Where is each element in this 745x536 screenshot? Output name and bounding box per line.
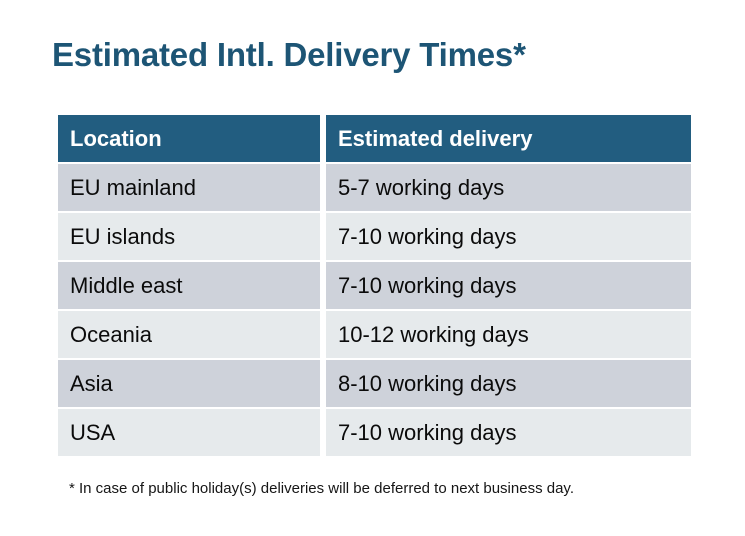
delivery-times-table: Location Estimated delivery EU mainland … [52, 113, 697, 458]
cell-estimate: 5-7 working days [326, 164, 691, 211]
table-row: Asia 8-10 working days [58, 360, 691, 407]
cell-estimate: 7-10 working days [326, 213, 691, 260]
table-row: Oceania 10-12 working days [58, 311, 691, 358]
table-row: Middle east 7-10 working days [58, 262, 691, 309]
table-body: EU mainland 5-7 working days EU islands … [58, 164, 691, 456]
cell-location: Oceania [58, 311, 320, 358]
cell-location: Asia [58, 360, 320, 407]
cell-location: EU mainland [58, 164, 320, 211]
cell-estimate: 8-10 working days [326, 360, 691, 407]
column-header-location: Location [58, 115, 320, 162]
table-row: EU mainland 5-7 working days [58, 164, 691, 211]
column-header-estimated-delivery: Estimated delivery [326, 115, 691, 162]
table-row: USA 7-10 working days [58, 409, 691, 456]
cell-location: EU islands [58, 213, 320, 260]
cell-location: Middle east [58, 262, 320, 309]
cell-estimate: 10-12 working days [326, 311, 691, 358]
table-row: EU islands 7-10 working days [58, 213, 691, 260]
cell-estimate: 7-10 working days [326, 262, 691, 309]
table-header: Location Estimated delivery [58, 115, 691, 162]
delivery-times-page: Estimated Intl. Delivery Times* Location… [0, 0, 745, 536]
footnote: * In case of public holiday(s) deliverie… [69, 480, 574, 497]
table-header-row: Location Estimated delivery [58, 115, 691, 162]
cell-estimate: 7-10 working days [326, 409, 691, 456]
cell-location: USA [58, 409, 320, 456]
page-title: Estimated Intl. Delivery Times* [52, 36, 526, 74]
